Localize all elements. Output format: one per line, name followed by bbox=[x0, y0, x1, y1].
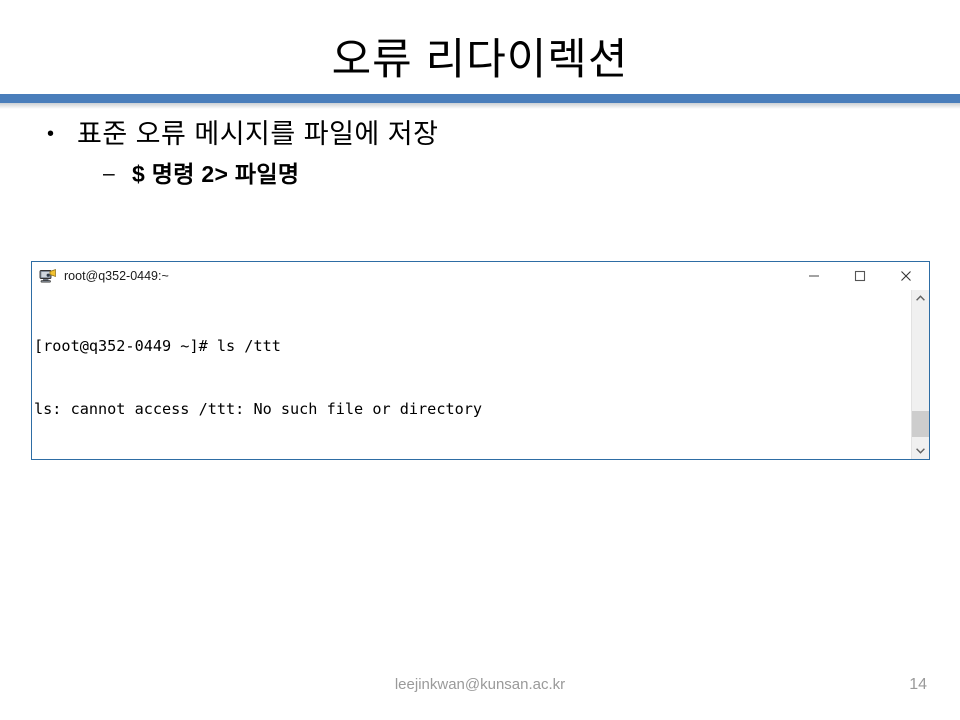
footer-page-number: 14 bbox=[909, 676, 927, 694]
minimize-icon[interactable] bbox=[791, 262, 837, 290]
bullet-marker-icon: • bbox=[47, 116, 77, 152]
terminal-screen[interactable]: [root@q352-0449 ~]# ls /ttt ls: cannot a… bbox=[32, 290, 911, 459]
close-icon[interactable] bbox=[883, 262, 929, 290]
putty-terminal-icon bbox=[39, 267, 57, 285]
terminal-scrollbar[interactable] bbox=[911, 290, 929, 459]
scroll-track[interactable] bbox=[912, 307, 929, 442]
terminal-window[interactable]: root@q352-0449:~ [root@q352-0449 ~]# ls … bbox=[31, 261, 930, 460]
title-divider-shadow bbox=[0, 103, 960, 109]
bullet-level1: • 표준 오류 메시지를 파일에 저장 bbox=[47, 116, 438, 152]
title-divider-rule bbox=[0, 94, 960, 103]
maximize-icon[interactable] bbox=[837, 262, 883, 290]
bullet-level2-text: $ 명령 2> 파일명 bbox=[132, 158, 299, 190]
footer-email: leejinkwan@kunsan.ac.kr bbox=[0, 676, 960, 693]
bullet-level2: – $ 명령 2> 파일명 bbox=[103, 158, 299, 190]
bullet-level1-text: 표준 오류 메시지를 파일에 저장 bbox=[77, 116, 438, 152]
dash-marker-icon: – bbox=[103, 158, 132, 190]
terminal-line: ls: cannot access /ttt: No such file or … bbox=[34, 399, 911, 420]
scroll-thumb[interactable] bbox=[912, 411, 929, 437]
terminal-titlebar[interactable]: root@q352-0449:~ bbox=[32, 262, 929, 290]
terminal-body[interactable]: [root@q352-0449 ~]# ls /ttt ls: cannot a… bbox=[32, 290, 929, 459]
terminal-title-text: root@q352-0449:~ bbox=[64, 269, 169, 283]
scroll-up-arrow-icon[interactable] bbox=[912, 290, 929, 307]
window-controls bbox=[791, 262, 929, 290]
terminal-line: [root@q352-0449 ~]# ls /ttt bbox=[34, 336, 911, 357]
page-title: 오류 리다이렉션 bbox=[0, 34, 960, 86]
scroll-down-arrow-icon[interactable] bbox=[912, 442, 929, 459]
